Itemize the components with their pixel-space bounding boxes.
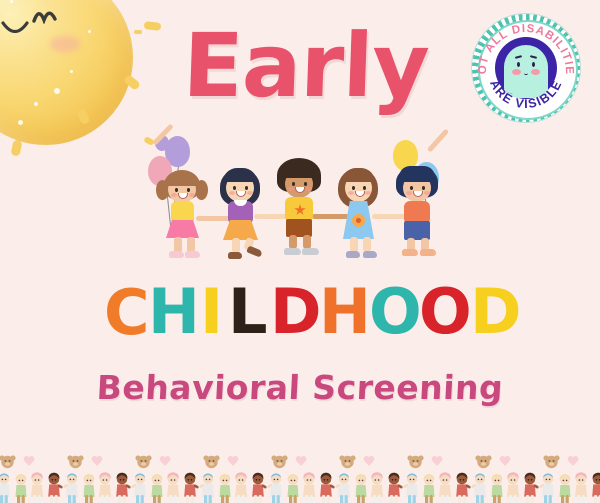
- poster-canvas: Early NOT ALL DISABILITIES ARE VISIBLE: [0, 0, 600, 503]
- childhood-letter-4: D: [270, 281, 321, 343]
- page-title-early: Early: [181, 22, 429, 110]
- child-figure-girl-brown-hair: [330, 158, 390, 268]
- smiling-sun-icon: [0, 0, 158, 170]
- sun-right-eye: [32, 6, 54, 22]
- child-figure-girl-pigtails: [154, 158, 214, 268]
- childhood-letter-6: O: [369, 281, 422, 343]
- not-all-disabilities-are-visible-badge: NOT ALL DISABILITIES ARE VISIBLE: [472, 14, 580, 122]
- childhood-letter-8: D: [470, 281, 521, 343]
- childhood-letter-1: H: [148, 281, 200, 343]
- child-figure-girl-black-bob: [212, 158, 272, 268]
- child-figure-boy-navy-hair: [388, 158, 450, 268]
- childhood-letter-7: O: [419, 281, 472, 343]
- childhood-letter-5: H: [319, 281, 371, 343]
- ghost-icon: [504, 45, 548, 93]
- childhood-letter-0: C: [104, 282, 150, 344]
- childhood-letter-2: I: [200, 281, 223, 343]
- border-pattern-svg: [0, 441, 600, 503]
- child-figure-boy-curly: [270, 156, 330, 268]
- page-subtitle: Behavioral Screening: [0, 368, 600, 407]
- badge-disc: [495, 37, 557, 99]
- childhood-letter-3: L: [228, 281, 268, 343]
- sun-body: [0, 0, 133, 145]
- childhood-wordmark: C H I L D H O O D: [104, 276, 504, 350]
- children-pattern-border: [0, 441, 600, 503]
- children-holding-hands-illustration: [136, 132, 456, 268]
- sun-mouth: [0, 20, 26, 36]
